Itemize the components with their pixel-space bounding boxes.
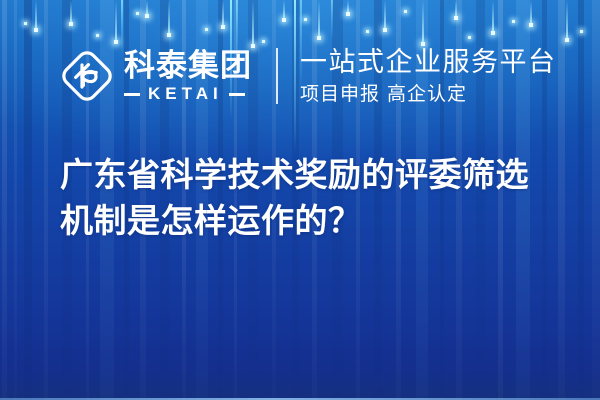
promo-banner: 科泰集团 KETAI 一站式企业服务平台 项目申报 高企认定 广东省科学技术奖励… bbox=[0, 0, 600, 400]
ketai-diamond-kd-monogram-icon bbox=[58, 47, 116, 105]
glow-dot bbox=[24, 22, 27, 25]
brand-name-en: KETAI bbox=[140, 85, 229, 103]
falling-particle bbox=[492, 0, 494, 33]
falling-particle bbox=[455, 0, 457, 18]
brand-header: 科泰集团 KETAI 一站式企业服务平台 项目申报 高企认定 bbox=[58, 40, 557, 112]
glow-dot bbox=[304, 18, 307, 21]
glow-dot bbox=[468, 36, 471, 39]
falling-particle bbox=[566, 0, 568, 40]
tagline-sub: 项目申报 高企认定 bbox=[300, 83, 557, 105]
falling-particle bbox=[115, 0, 117, 42]
glow-dot bbox=[580, 30, 583, 33]
falling-particle bbox=[318, 0, 320, 38]
falling-particle bbox=[530, 0, 532, 25]
header-divider bbox=[276, 48, 278, 104]
glow-dot bbox=[136, 12, 139, 15]
wordmark-rule-left bbox=[124, 93, 140, 96]
falling-particle bbox=[422, 0, 424, 44]
falling-particle bbox=[283, 0, 285, 20]
falling-particle bbox=[384, 0, 386, 30]
glow-dot bbox=[205, 28, 208, 31]
brand-name-en-row: KETAI bbox=[124, 85, 252, 103]
falling-particle bbox=[168, 0, 170, 35]
brand-wordmark: 科泰集团 KETAI bbox=[124, 49, 252, 103]
wordmark-rule-right bbox=[229, 93, 245, 96]
glow-dot bbox=[404, 10, 407, 13]
falling-particle bbox=[35, 0, 37, 30]
glow-dot bbox=[366, 30, 369, 33]
falling-particle bbox=[146, 0, 148, 16]
falling-particle bbox=[347, 0, 349, 14]
page-title: 广东省科学技术奖励的评委筛选机制是怎样运作的？ bbox=[60, 152, 560, 244]
tagline-block: 一站式企业服务平台 项目申报 高企认定 bbox=[300, 47, 557, 105]
glow-dot bbox=[96, 34, 99, 37]
falling-particle bbox=[70, 0, 72, 24]
accent-line bbox=[331, 0, 333, 40]
tagline-main: 一站式企业服务平台 bbox=[300, 47, 557, 78]
falling-particle bbox=[222, 0, 224, 27]
glow-dot bbox=[512, 20, 515, 23]
brand-name-cn: 科泰集团 bbox=[124, 49, 252, 83]
